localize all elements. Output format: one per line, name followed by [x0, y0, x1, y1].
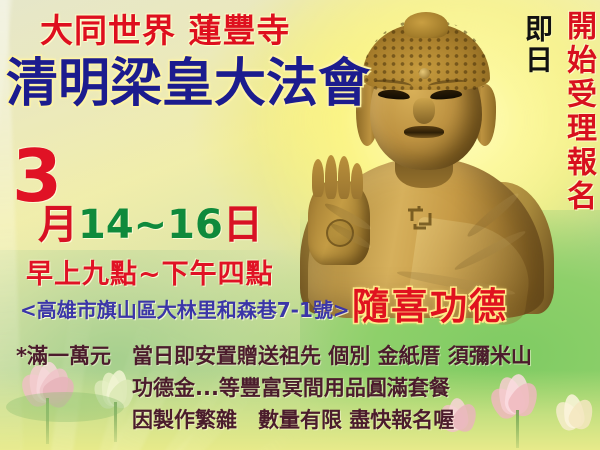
temple-name-line: 大同世界 蓮豐寺 — [40, 14, 291, 47]
address-line: <高雄市旗山區大林里和森巷7-1號> — [20, 300, 350, 320]
lotus-leaf — [6, 392, 124, 422]
day-char: 日 — [223, 202, 263, 248]
page-title: 清明梁皇大法會 — [6, 58, 370, 110]
swastika-emblem — [404, 202, 434, 232]
month-char: 月 — [38, 202, 78, 248]
fine-print-line: 功德金...等豐富冥間用品圓滿套餐 — [132, 378, 450, 399]
date-range: 月14~16日 — [38, 205, 263, 245]
fine-print-line: 因製作繁雜 數量有限 盡快報名喔 — [132, 410, 454, 431]
lotus-flower — [546, 386, 600, 428]
starting-today-vertical: 即日 — [523, 14, 552, 76]
fine-print-line: *滿一萬元 當日即安置贈送祖先 個別 金紙厝 須彌米山 — [16, 346, 532, 367]
merit-slogan: 隨喜功德 — [352, 288, 508, 325]
poster-canvas: 大同世界 蓮豐寺 清明梁皇大法會 3 月14~16日 早上九點~下午四點 <高雄… — [0, 0, 600, 450]
time-range: 早上九點~下午四點 — [26, 261, 274, 288]
registration-open-vertical: 開始受理報名 — [563, 10, 595, 214]
lotus-flower — [480, 366, 552, 414]
day-range: 14~16 — [78, 202, 223, 248]
buddha-statue — [300, 6, 550, 306]
